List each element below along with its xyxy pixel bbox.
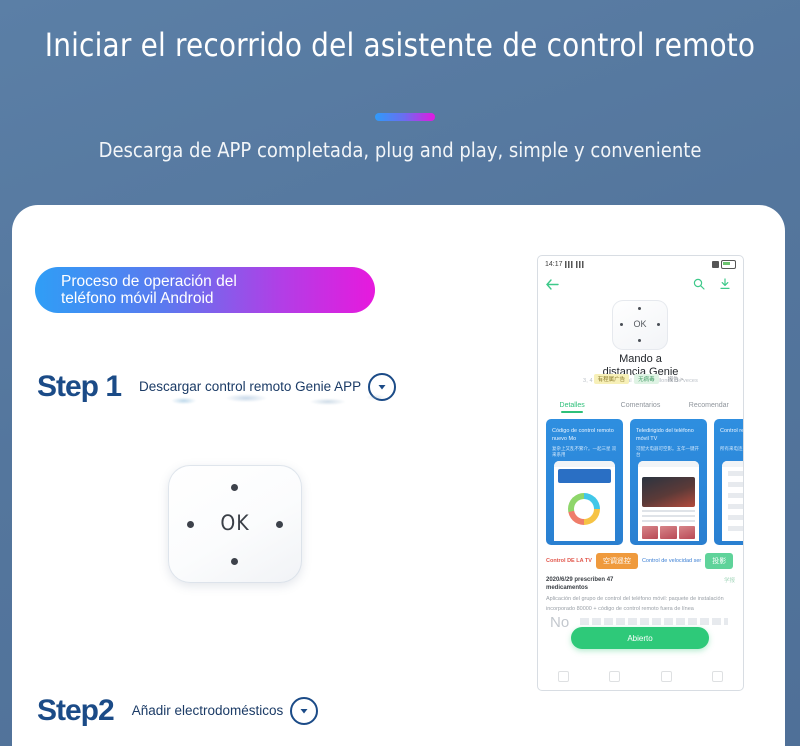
preview-text-lines: [642, 510, 695, 524]
phone-remote-button-left: [620, 323, 623, 326]
preview-topbar: [722, 461, 744, 467]
accent-divider: [375, 113, 435, 121]
phone-remote-button-down: [638, 339, 641, 342]
screenshot-card-title: Código de control remoto nuevo Mo: [552, 427, 617, 443]
android-process-badge: Proceso de operación del teléfono móvil …: [35, 267, 375, 313]
phone-remote-button-right: [657, 323, 660, 326]
status-time: 14:17: [545, 261, 563, 268]
app-tag-ad[interactable]: 有程属广告: [594, 374, 630, 384]
phone-product-image: OK: [612, 300, 668, 350]
preview-list: [728, 471, 744, 537]
remote-button-down: [231, 558, 238, 565]
screenshot-card-title: Teledirigido del teléfono móvil TV: [636, 427, 701, 443]
remote-button-up: [231, 484, 238, 491]
preview-donut-chart: [568, 493, 600, 525]
screenshot-card[interactable]: Control remoto 所有来电连: [714, 419, 744, 545]
chevron-down-icon[interactable]: [290, 697, 318, 725]
chip-speed[interactable]: Control de velocidad ser: [642, 558, 701, 564]
page-header: Iniciar el recorrido del asistente de co…: [0, 0, 800, 198]
open-button[interactable]: Abierto: [571, 627, 709, 649]
app-name-line-1: Mando a: [619, 353, 662, 365]
step-2-label: Añadir electrodomésticos: [132, 703, 284, 719]
search-icon[interactable]: [693, 277, 705, 295]
wifi-icon: [576, 261, 585, 268]
screenshot-card-title: Control remoto: [720, 427, 744, 435]
badge-line-1: Proceso de operación del: [61, 273, 237, 290]
battery-icon: [721, 260, 736, 269]
report-link[interactable]: 学报: [724, 576, 735, 584]
badge-line-2: teléfono móvil Android: [61, 290, 214, 307]
description-line-2: medicamentos: [546, 584, 736, 592]
nav-home-icon[interactable]: [538, 668, 589, 684]
chip-projector[interactable]: 投影: [705, 553, 733, 569]
back-arrow-icon[interactable]: [546, 277, 559, 295]
description-line-3: Aplicación del grupo de control del telé…: [546, 595, 736, 603]
step-2: Step2 Añadir electrodomésticos: [37, 694, 318, 728]
screenshot-card[interactable]: Código de control remoto nuevo Mo 复杂上又乱不…: [546, 419, 623, 545]
nav-share-icon[interactable]: [692, 668, 743, 684]
preview-banner: [558, 469, 611, 483]
tab-comentarios[interactable]: Comentarios: [606, 402, 674, 409]
step-1-number: Step 1: [37, 370, 121, 404]
phone-app-navbar: [538, 274, 743, 296]
chip-aircon[interactable]: 空调遥控: [596, 553, 638, 569]
page-title: Iniciar el recorrido del asistente de co…: [12, 26, 788, 64]
chip-tv-control[interactable]: Control DE LA TV: [546, 558, 592, 564]
app-tags: 有程属广告 无病毒 报告 >: [538, 374, 743, 384]
android-process-badge-text: Proceso de operación del teléfono móvil …: [61, 273, 237, 307]
preview-thumbnails: [642, 526, 695, 539]
screenshot-card[interactable]: Teledirigido del teléfono móvil TV 可配大电器…: [630, 419, 707, 545]
screenshot-preview: [554, 461, 615, 541]
screenshot-preview: [722, 461, 744, 541]
screenshot-card-subtitle: 所有来电连: [720, 446, 744, 452]
app-tab-bar: Detalles Comentarios Recomendar: [538, 396, 743, 414]
blurred-text-line: [580, 618, 728, 625]
preview-topbar: [638, 461, 699, 467]
nav-menu-icon[interactable]: [589, 668, 640, 684]
nav-refresh-icon[interactable]: [641, 668, 692, 684]
phone-remote-button-up: [638, 307, 641, 310]
screenshot-card-subtitle: 可配大电器可空影。五年一键开台: [636, 446, 701, 458]
description-line-1: 2020/6/29 prescriben 47: [546, 576, 736, 584]
screenshot-preview: [638, 461, 699, 541]
description-line-4: incorporado 80000 + código de control re…: [546, 605, 736, 613]
no-label: No: [550, 614, 569, 631]
download-icon[interactable]: [719, 277, 731, 295]
phone-mockup: 14:17 OK Mando a distancia Genie 3, 4 pu…: [537, 255, 744, 691]
preview-topbar: [554, 461, 615, 467]
remote-button-right: [276, 521, 283, 528]
blurred-artifact-text: [155, 390, 395, 408]
alarm-icon: [712, 261, 719, 268]
app-tag-virusfree[interactable]: 无病毒: [634, 374, 659, 384]
app-description: 2020/6/29 prescriben 47 medicamentos Apl…: [546, 576, 736, 613]
step-2-number: Step2: [37, 694, 114, 728]
remote-control-device: OK: [168, 465, 302, 583]
phone-status-bar: 14:17: [538, 256, 743, 272]
preview-photo: [642, 477, 695, 507]
tab-recomendar[interactable]: Recomendar: [675, 402, 743, 409]
screenshot-card-subtitle: 复杂上又乱不繁介。一起三星 双来系用: [552, 446, 617, 458]
app-screenshot-carousel[interactable]: Código de control remoto nuevo Mo 复杂上又乱不…: [546, 419, 744, 545]
page-subtitle: Descarga de APP completada, plug and pla…: [0, 138, 800, 162]
phone-bottom-nav: [538, 668, 743, 684]
category-chips: Control DE LA TV 空调遥控 Control de velocid…: [546, 552, 744, 570]
remote-button-left: [187, 521, 194, 528]
app-tag-report[interactable]: 报告 >: [664, 374, 688, 384]
signal-bars-icon: [565, 261, 574, 268]
tab-detalles[interactable]: Detalles: [538, 402, 606, 409]
